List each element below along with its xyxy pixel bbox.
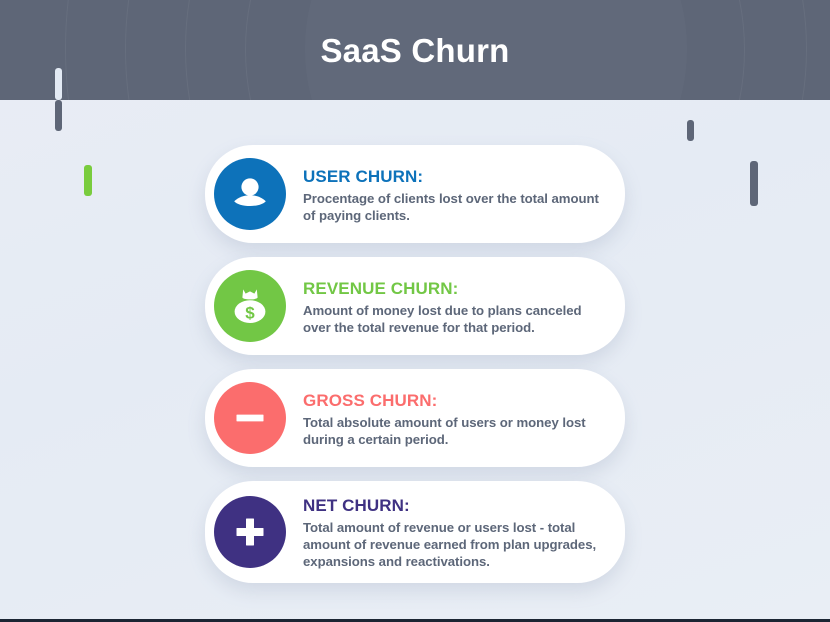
card-text-gross-churn: GROSS CHURN: Total absolute amount of us…	[303, 389, 603, 448]
churn-card-list: USER CHURN: Procentage of clients lost o…	[205, 145, 630, 597]
deco-bar-right-small	[687, 120, 694, 141]
card-revenue-churn[interactable]: $ REVENUE CHURN: Amount of money lost du…	[205, 257, 625, 355]
card-description: Total absolute amount of users or money …	[303, 414, 603, 448]
card-title: REVENUE CHURN:	[303, 278, 603, 299]
card-title: USER CHURN:	[303, 166, 603, 187]
card-net-churn[interactable]: NET CHURN: Total amount of revenue or us…	[205, 481, 625, 583]
card-user-churn[interactable]: USER CHURN: Procentage of clients lost o…	[205, 145, 625, 243]
card-description: Total amount of revenue or users lost - …	[303, 519, 603, 570]
card-text-user-churn: USER CHURN: Procentage of clients lost o…	[303, 165, 603, 224]
user-icon	[214, 158, 286, 230]
card-text-net-churn: NET CHURN: Total amount of revenue or us…	[303, 494, 603, 570]
header-bar: SaaS Churn	[0, 0, 830, 100]
page-title: SaaS Churn	[0, 28, 830, 73]
card-text-revenue-churn: REVENUE CHURN: Amount of money lost due …	[303, 277, 603, 336]
plus-icon	[214, 496, 286, 568]
minus-icon	[214, 382, 286, 454]
card-description: Procentage of clients lost over the tota…	[303, 190, 603, 224]
deco-bar-green	[84, 165, 92, 196]
money-bag-icon: $	[214, 270, 286, 342]
card-description: Amount of money lost due to plans cancel…	[303, 302, 603, 336]
deco-bar-header-light	[55, 68, 62, 100]
card-title: GROSS CHURN:	[303, 390, 603, 411]
card-title: NET CHURN:	[303, 495, 603, 516]
deco-bar-right-large	[750, 161, 758, 206]
svg-text:$: $	[245, 303, 255, 322]
slide-canvas: SaaS Churn USER CHURN: Procentage of cli…	[0, 0, 830, 622]
card-gross-churn[interactable]: GROSS CHURN: Total absolute amount of us…	[205, 369, 625, 467]
deco-bar-left-dark	[55, 100, 62, 131]
